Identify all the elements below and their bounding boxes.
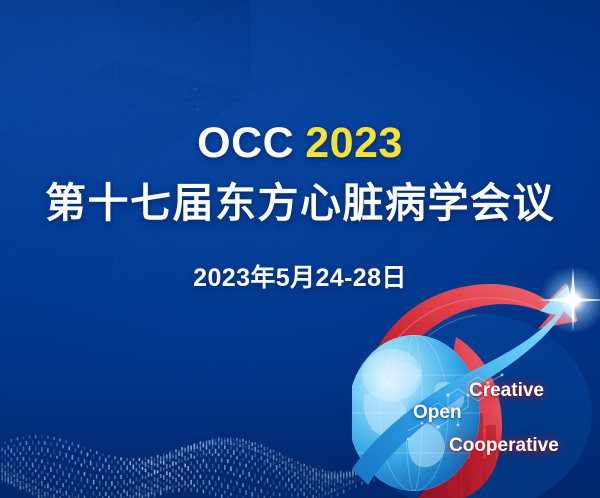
conference-poster: OCC2023 第十七届东方心脏病学会议 2023年5月24-28日 Open … <box>0 0 600 498</box>
emblem-graphic <box>352 263 600 498</box>
